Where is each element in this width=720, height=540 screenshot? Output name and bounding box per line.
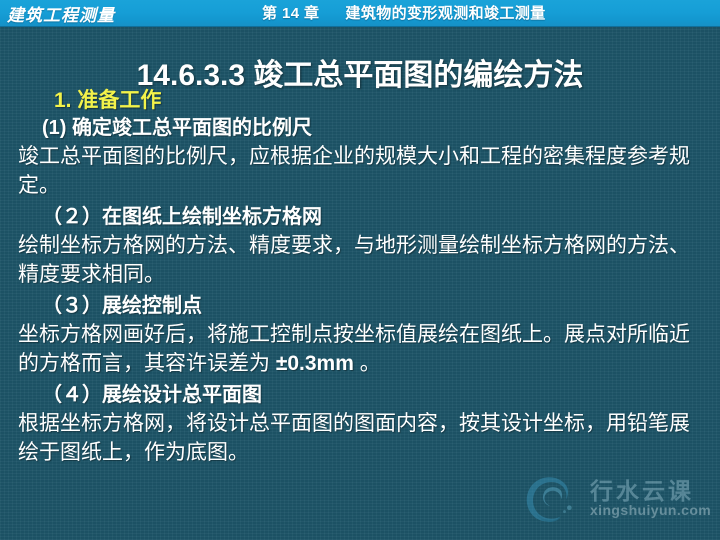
watermark-brand-cn: 行水云课: [590, 472, 694, 506]
slide-canvas: 建筑工程测量 第 14 章建筑物的变形观测和竣工测量 14.6.3.3 竣工总平…: [0, 0, 720, 540]
item-head-4: （４）展绘设计总平面图: [42, 381, 720, 409]
slide-body: 1. 准备工作 (1) 确定竣工总平面图的比例尺 竣工总平面图的比例尺，应根据企…: [0, 88, 720, 467]
item-head-3: （３）展绘控制点: [42, 292, 720, 320]
item-para-2: 绘制坐标方格网的方法、精度要求，与地形测量绘制坐标方格网的方法、精度要求相同。: [18, 231, 704, 289]
item-para-3-bold: ±0.3mm: [276, 352, 354, 375]
item-para-2-text: 绘制坐标方格网的方法、精度要求，与地形测量绘制坐标方格网的方法、精度要求相同。: [18, 234, 690, 286]
course-title: 建筑工程测量: [7, 1, 115, 26]
chapter-title: 建筑物的变形观测和竣工测量: [345, 5, 545, 22]
item-para-1-text: 竣工总平面图的比例尺，应根据企业的规模大小和工程的密集程度参考规定。: [18, 145, 690, 197]
watermark-domain: xingshuiyun.com: [590, 502, 711, 518]
item-para-3: 坐标方格网画好后，将施工控制点按坐标值展绘在图纸上。展点对所临近的方格而言，其容…: [18, 320, 704, 378]
item-para-1: 竣工总平面图的比例尺，应根据企业的规模大小和工程的密集程度参考规定。: [18, 142, 704, 200]
item-para-4-text: 根据坐标方格网，将设计总平面图的图面内容，按其设计坐标，用铅笔展绘于图纸上，作为…: [18, 412, 690, 464]
item-head-1: (1) 确定竣工总平面图的比例尺: [42, 114, 720, 142]
chapter-heading: 第 14 章建筑物的变形观测和竣工测量: [262, 2, 546, 23]
wave-logo-icon: [518, 468, 580, 530]
item-head-2: （２）在图纸上绘制坐标方格网: [42, 203, 720, 231]
watermark: 行水云课 xingshuiyun.com: [518, 466, 714, 538]
slide-header-bar: 建筑工程测量 第 14 章建筑物的变形观测和竣工测量: [0, 0, 720, 27]
item-para-3-tail: 。: [354, 352, 381, 375]
item-para-4: 根据坐标方格网，将设计总平面图的图面内容，按其设计坐标，用铅笔展绘于图纸上，作为…: [18, 409, 704, 467]
chapter-label: 第 14 章: [262, 5, 319, 22]
section-heading: 1. 准备工作: [54, 88, 720, 114]
